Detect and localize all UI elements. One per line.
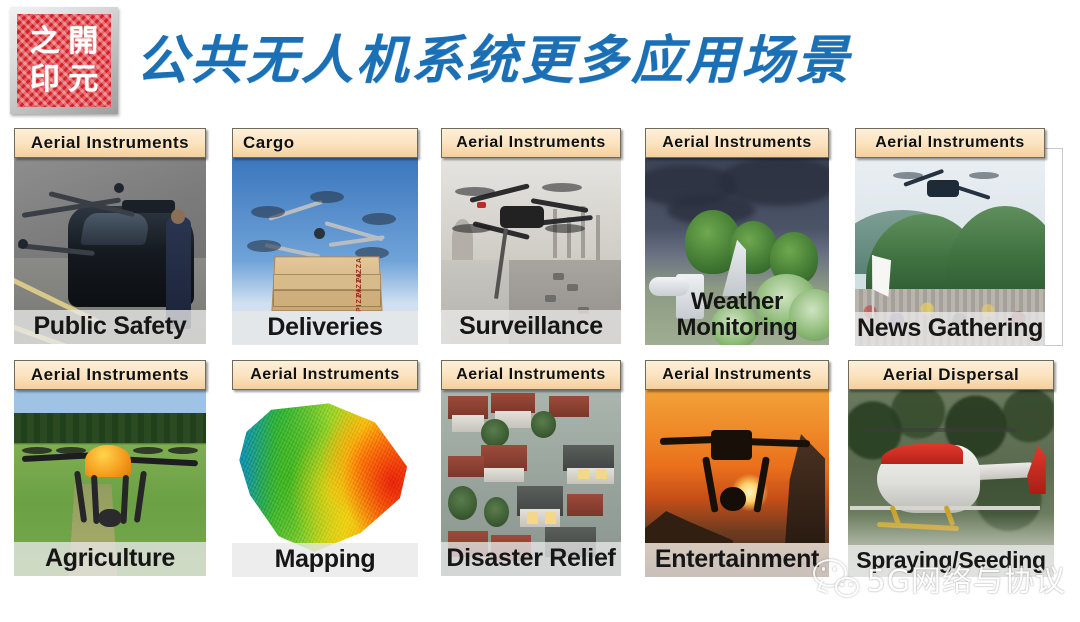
card-image-disaster: Disaster Relief [441, 389, 621, 576]
card-plate-surveillance: Aerial Instruments [441, 128, 621, 158]
seal-char-1: 之 [26, 23, 64, 60]
card-image-deliveries: PIZZA PIZZA PIZZA Deliveries [232, 157, 418, 345]
card-row-2: Aerial Instruments Agriculture [0, 360, 1080, 580]
card-deliveries[interactable]: Cargo PIZZA PIZZA PIZZA Deli [232, 128, 418, 345]
card-caption-public-safety: Public Safety [14, 310, 206, 344]
card-image-spraying: Spraying/Seeding [848, 389, 1054, 577]
seal-stamp-logo: 之 開 印 元 [10, 7, 118, 114]
card-caption-deliveries: Deliveries [232, 311, 418, 345]
card-caption-disaster: Disaster Relief [441, 542, 621, 576]
plate-label: Aerial Instruments [233, 366, 417, 384]
card-caption-news: News Gathering [855, 312, 1045, 346]
watermark-text: 5G网络与协议 [867, 556, 1066, 600]
card-plate-news: Aerial Instruments [855, 128, 1045, 158]
card-image-agriculture: Agriculture [14, 389, 206, 576]
card-public-safety[interactable]: Aerial Instruments Public Safety [14, 128, 206, 344]
card-image-news: News Gathering [855, 157, 1045, 346]
card-news-gathering[interactable]: Aerial Instruments News Gathering [855, 128, 1053, 346]
plate-label: Aerial Instruments [856, 134, 1044, 152]
seal-stamp-inner: 之 開 印 元 [17, 14, 111, 107]
seal-char-3: 印 [26, 61, 64, 98]
card-caption-mapping: Mapping [232, 543, 418, 577]
card-mapping[interactable]: Aerial Instruments Mapping [232, 360, 418, 577]
card-plate-cargo: Cargo [232, 128, 418, 158]
card-agriculture[interactable]: Aerial Instruments Agriculture [14, 360, 206, 576]
card-image-surveillance: Surveillance [441, 157, 621, 344]
slide-header: 之 開 印 元 公共无人机系统更多应用场景 [0, 0, 1080, 120]
wechat-watermark: 5G网络与协议 [813, 556, 1066, 600]
card-plate-dispersal: Aerial Dispersal [848, 360, 1054, 390]
card-plate-mapping: Aerial Instruments [232, 360, 418, 390]
card-entertainment[interactable]: Aerial Instruments Entertainment [645, 360, 829, 577]
plate-label: Aerial Dispersal [849, 365, 1053, 385]
card-surveillance[interactable]: Aerial Instruments [441, 128, 621, 344]
card-spraying-seeding[interactable]: Aerial Dispersal Spraying/Seeding [848, 360, 1060, 577]
card-plate-agriculture: Aerial Instruments [14, 360, 206, 390]
wechat-icon [813, 559, 859, 597]
card-disaster-relief[interactable]: Aerial Instruments [441, 360, 621, 576]
card-image-entertainment: Entertainment [645, 389, 829, 577]
card-plate-disaster: Aerial Instruments [441, 360, 621, 390]
card-plate-public-safety: Aerial Instruments [14, 128, 206, 158]
plate-label: Aerial Instruments [442, 134, 620, 152]
plate-label: Aerial Instruments [646, 366, 828, 384]
card-caption-weather: Weather Monitoring [645, 286, 829, 345]
caption-line-1: Weather [645, 289, 829, 315]
card-caption-surveillance: Surveillance [441, 310, 621, 344]
card-image-public-safety: Public Safety [14, 157, 206, 344]
plate-label: Aerial Instruments [15, 133, 205, 153]
card-row-1: Aerial Instruments Public Safety [0, 128, 1080, 348]
caption-line-2: Monitoring [645, 315, 829, 341]
page-title: 公共无人机系统更多应用场景 [136, 18, 851, 93]
card-image-mapping: Mapping [232, 389, 418, 577]
plate-label: Cargo [233, 133, 295, 153]
card-image-weather: Weather Monitoring [645, 157, 829, 345]
plate-label: Aerial Instruments [646, 134, 828, 152]
card-plate-weather: Aerial Instruments [645, 128, 829, 158]
seal-char-4: 元 [65, 61, 103, 98]
card-plate-entertainment: Aerial Instruments [645, 360, 829, 390]
seal-char-2: 開 [65, 23, 103, 60]
card-caption-agriculture: Agriculture [14, 542, 206, 576]
card-weather-monitoring[interactable]: Aerial Instruments Weather Monitoring [645, 128, 829, 345]
slide-canvas: 之 開 印 元 公共无人机系统更多应用场景 Aerial Instruments [0, 0, 1080, 622]
plate-label: Aerial Instruments [15, 365, 205, 385]
card-caption-entertainment: Entertainment [645, 543, 829, 577]
plate-label: Aerial Instruments [442, 366, 620, 384]
